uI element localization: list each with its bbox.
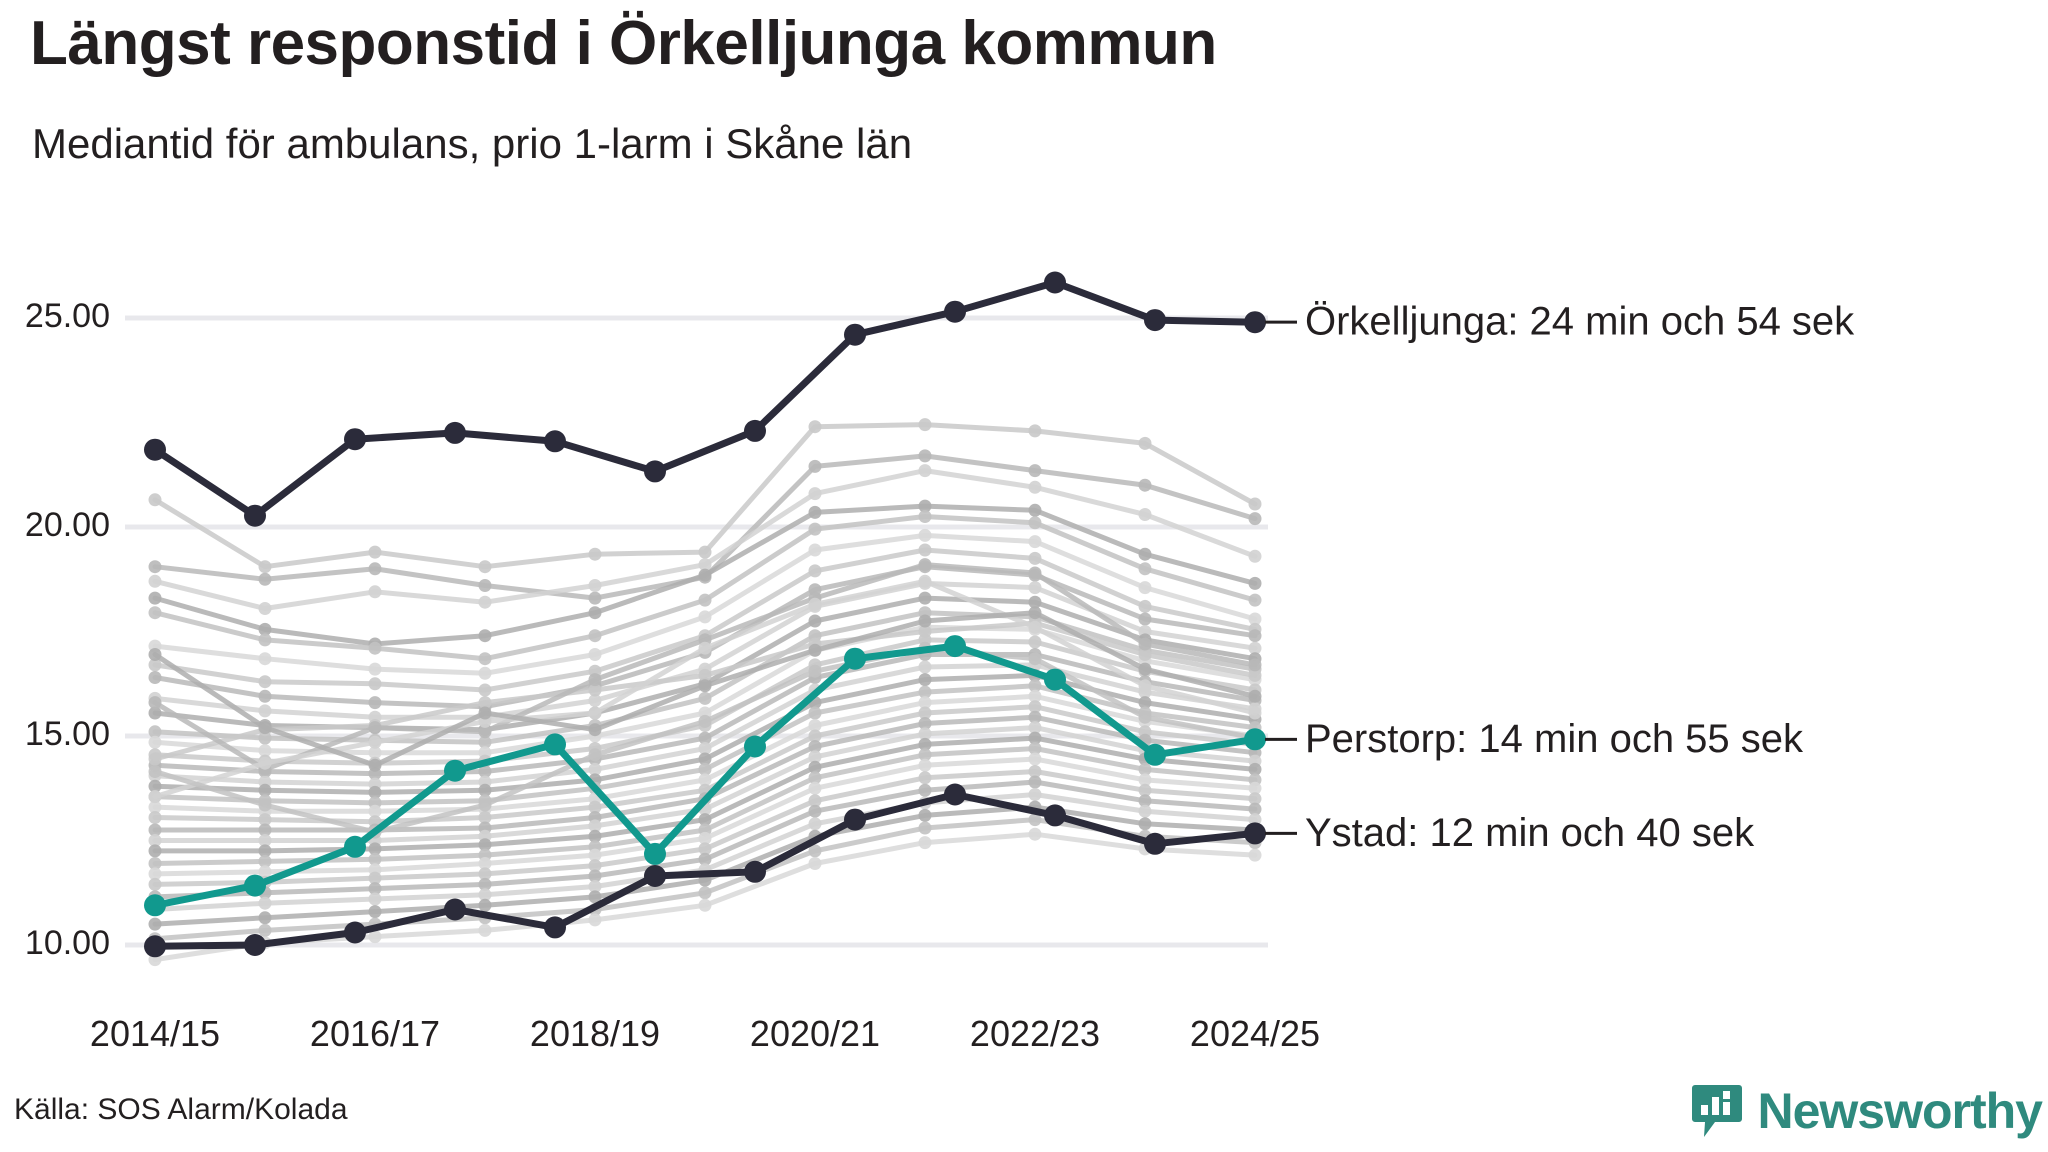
highlighted-series-point [644, 865, 666, 887]
background-series-point [369, 642, 382, 655]
background-series-point [809, 707, 822, 720]
background-series-point [589, 723, 602, 736]
background-series-point [1139, 663, 1152, 676]
background-series-point [809, 615, 822, 628]
background-series-point [149, 918, 162, 931]
background-series-line [155, 471, 1255, 609]
background-series-point [1029, 788, 1042, 801]
y-axis-tick-labels: 10.0015.0020.0025.00 [25, 297, 110, 962]
background-series-point [1249, 577, 1262, 590]
background-series-point [589, 673, 602, 686]
highlighted-series-point [744, 420, 766, 442]
background-series-point [479, 667, 492, 680]
background-series-point [589, 648, 602, 661]
background-series-point [479, 596, 492, 609]
highlighted-series-point [444, 899, 466, 921]
background-series-point [919, 809, 932, 822]
background-series-point [1249, 690, 1262, 703]
y-axis-tick-label: 20.00 [25, 506, 110, 544]
highlighted-series-point [544, 916, 566, 938]
background-series-point [809, 460, 822, 473]
background-series-point [149, 696, 162, 709]
background-series-point [1139, 479, 1152, 492]
background-series-point [699, 715, 712, 728]
highlighted-series-point [944, 301, 966, 323]
highlighted-series-point [1044, 272, 1066, 294]
background-series-point [589, 606, 602, 619]
background-series-point [1029, 776, 1042, 789]
highlighted-series-point [1244, 311, 1266, 333]
background-series-point [809, 817, 822, 830]
background-series-point [479, 924, 492, 937]
background-series-point [589, 913, 602, 926]
background-series-point [149, 878, 162, 891]
highlighted-series-point [444, 422, 466, 444]
background-series-point [369, 721, 382, 734]
series-annotation-label: Perstorp: 14 min och 55 sek [1305, 717, 1804, 761]
background-series-point [1029, 535, 1042, 548]
background-series-point [1249, 594, 1262, 607]
background-series-point [589, 592, 602, 605]
background-series-point [589, 748, 602, 761]
highlighted-series-point [444, 760, 466, 782]
background-series-point [1249, 849, 1262, 862]
highlighted-series-point [844, 809, 866, 831]
background-series-point [1249, 498, 1262, 511]
background-series-point [259, 897, 272, 910]
background-series-point [479, 899, 492, 912]
background-series-point [1139, 600, 1152, 613]
background-series-point [369, 562, 382, 575]
highlighted-series-point [1144, 833, 1166, 855]
background-series-point [1029, 636, 1042, 649]
background-series-point [1139, 437, 1152, 450]
series-annotations: Örkelljunga: 24 min och 54 sekPerstorp: … [1265, 300, 1855, 855]
background-series-point [1029, 464, 1042, 477]
background-series-point [1029, 567, 1042, 580]
background-series-point [699, 642, 712, 655]
background-series-point [369, 905, 382, 918]
highlighted-series-point [1044, 804, 1066, 826]
background-series-point [919, 836, 932, 849]
background-series-point [149, 790, 162, 803]
background-series-point [479, 652, 492, 665]
background-series-point [1029, 581, 1042, 594]
background-series-point [809, 564, 822, 577]
x-axis-tick-label: 2020/21 [750, 1013, 880, 1054]
background-series-point [479, 707, 492, 720]
background-series-point [919, 784, 932, 797]
highlighted-series-point [244, 934, 266, 956]
highlighted-series-point [1144, 744, 1166, 766]
highlighted-series-point [144, 439, 166, 461]
background-series-point [1029, 516, 1042, 529]
background-series-point [1139, 711, 1152, 724]
highlighted-series-point [544, 733, 566, 755]
background-series-point [149, 560, 162, 573]
background-series-point [259, 924, 272, 937]
background-series-point [809, 506, 822, 519]
background-series-point [809, 523, 822, 536]
background-series-point [369, 546, 382, 559]
background-series-group [149, 418, 1262, 966]
x-axis-tick-label: 2018/19 [530, 1013, 660, 1054]
x-axis-tick-label: 2022/23 [970, 1013, 1100, 1054]
background-series-point [919, 418, 932, 431]
background-series-point [149, 606, 162, 619]
background-series-point [259, 675, 272, 688]
background-series-point [699, 594, 712, 607]
background-series-point [919, 529, 932, 542]
highlighted-series-point [744, 861, 766, 883]
background-series-point [149, 648, 162, 661]
background-series-point [919, 822, 932, 835]
background-series-point [1249, 629, 1262, 642]
background-series-point [259, 704, 272, 717]
background-series-point [699, 679, 712, 692]
background-series-point [479, 799, 492, 812]
highlighted-series-point [144, 935, 166, 957]
highlighted-series-point [644, 843, 666, 865]
background-series-point [589, 579, 602, 592]
chart-container: Längst responstid i Örkelljunga kommun M… [0, 0, 2048, 1152]
highlighted-series-point [344, 922, 366, 944]
background-series-point [149, 736, 162, 749]
background-series-point [259, 799, 272, 812]
background-series-point [149, 811, 162, 824]
highlighted-series-point [944, 635, 966, 657]
background-series-point [259, 560, 272, 573]
background-series-point [1029, 552, 1042, 565]
background-series-point [1029, 606, 1042, 619]
x-axis-tick-label: 2014/15 [90, 1013, 220, 1054]
background-series-point [1139, 638, 1152, 651]
highlighted-series-point [1244, 822, 1266, 844]
background-series-point [259, 757, 272, 770]
background-series-point [1139, 817, 1152, 830]
background-series-point [1139, 805, 1152, 818]
background-series-point [149, 844, 162, 857]
background-series-point [699, 899, 712, 912]
background-series-point [1029, 481, 1042, 494]
highlighted-series-point [844, 648, 866, 670]
highlighted-series-point [944, 784, 966, 806]
background-series-point [479, 684, 492, 697]
y-axis-tick-label: 15.00 [25, 715, 110, 753]
background-series-point [149, 671, 162, 684]
background-series-point [1249, 658, 1262, 671]
y-axis-tick-label: 10.00 [25, 924, 110, 962]
highlighted-series-point [844, 324, 866, 346]
y-axis-tick-label: 25.00 [25, 297, 110, 335]
background-series-point [259, 602, 272, 615]
line-chart-svg: 10.0015.0020.0025.00 2014/152016/172018/… [0, 0, 2048, 1152]
newsworthy-logo: Newsworthy [1691, 1083, 2042, 1139]
x-axis-tick-labels: 2014/152016/172018/192020/212022/232024/… [90, 1013, 1320, 1054]
background-series-point [809, 487, 822, 500]
background-series-point [369, 677, 382, 690]
background-series-point [149, 592, 162, 605]
background-series-point [1139, 581, 1152, 594]
background-series-point [699, 886, 712, 899]
background-series-point [369, 585, 382, 598]
background-series-point [259, 652, 272, 665]
background-series-point [809, 665, 822, 678]
background-series-point [699, 692, 712, 705]
background-series-point [1139, 613, 1152, 626]
background-series-point [919, 592, 932, 605]
background-series-point [259, 911, 272, 924]
background-series-point [699, 569, 712, 582]
background-series-point [149, 493, 162, 506]
background-series-point [1029, 504, 1042, 517]
background-series-point [699, 610, 712, 623]
background-series-point [149, 575, 162, 588]
background-series-point [809, 644, 822, 657]
background-series-point [259, 690, 272, 703]
background-series-point [259, 721, 272, 734]
background-series-point [149, 753, 162, 766]
background-series-point [1139, 679, 1152, 692]
background-series-point [1139, 508, 1152, 521]
background-series-point [589, 548, 602, 561]
highlighted-series-point [644, 460, 666, 482]
background-series-point [919, 575, 932, 588]
background-series-point [479, 579, 492, 592]
background-series-point [919, 558, 932, 571]
background-series-point [259, 633, 272, 646]
background-series-point [919, 449, 932, 462]
background-series-point [809, 805, 822, 818]
background-series-point [369, 696, 382, 709]
series-annotation-label: Örkelljunga: 24 min och 54 sek [1305, 300, 1855, 344]
background-series-point [919, 673, 932, 686]
background-series-point [1029, 621, 1042, 634]
background-series-point [919, 771, 932, 784]
background-series-point [919, 510, 932, 523]
background-series-point [1029, 652, 1042, 665]
highlighted-series-point [244, 875, 266, 897]
background-series-point [809, 544, 822, 557]
highlighted-series-point [244, 505, 266, 527]
background-series-point [479, 629, 492, 642]
background-series-point [919, 759, 932, 772]
background-series-point [919, 615, 932, 628]
background-series-point [369, 759, 382, 772]
highlighted-series-point [344, 428, 366, 450]
source-caption: Källa: SOS Alarm/Kolada [14, 1093, 348, 1127]
background-series-point [809, 782, 822, 795]
background-series-point [589, 629, 602, 642]
background-series-point [1249, 550, 1262, 563]
background-series-point [809, 857, 822, 870]
highlighted-series-point [1044, 669, 1066, 691]
background-series-point [369, 893, 382, 906]
background-series-point [1249, 512, 1262, 525]
highlighted-series-point [1144, 309, 1166, 331]
background-series-point [479, 560, 492, 573]
background-series-point [919, 661, 932, 674]
background-series-point [369, 663, 382, 676]
background-series-point [809, 598, 822, 611]
background-series-point [149, 765, 162, 778]
background-series-point [1249, 707, 1262, 720]
background-series-point [1029, 424, 1042, 437]
x-axis-tick-label: 2016/17 [310, 1013, 440, 1054]
background-series-point [259, 573, 272, 586]
background-series-point [919, 464, 932, 477]
highlighted-series-point [744, 736, 766, 758]
highlighted-series-point [544, 430, 566, 452]
background-series-point [809, 420, 822, 433]
x-axis-tick-label: 2024/25 [1190, 1013, 1320, 1054]
highlighted-series-point [1244, 728, 1266, 750]
background-series-point [1029, 753, 1042, 766]
highlighted-series-point [344, 836, 366, 858]
logo-wordmark: Newsworthy [1757, 1086, 2042, 1136]
background-series-point [699, 546, 712, 559]
background-series-point [1139, 562, 1152, 575]
background-series-point [1139, 548, 1152, 561]
highlighted-series-point [144, 894, 166, 916]
bar-chart-speech-bubble-icon [1691, 1083, 1743, 1139]
background-series-point [919, 544, 932, 557]
background-series-point [369, 736, 382, 749]
background-series-point [589, 707, 602, 720]
background-series-point [1029, 828, 1042, 841]
series-annotation-label: Ystad: 12 min och 40 sek [1305, 811, 1755, 855]
